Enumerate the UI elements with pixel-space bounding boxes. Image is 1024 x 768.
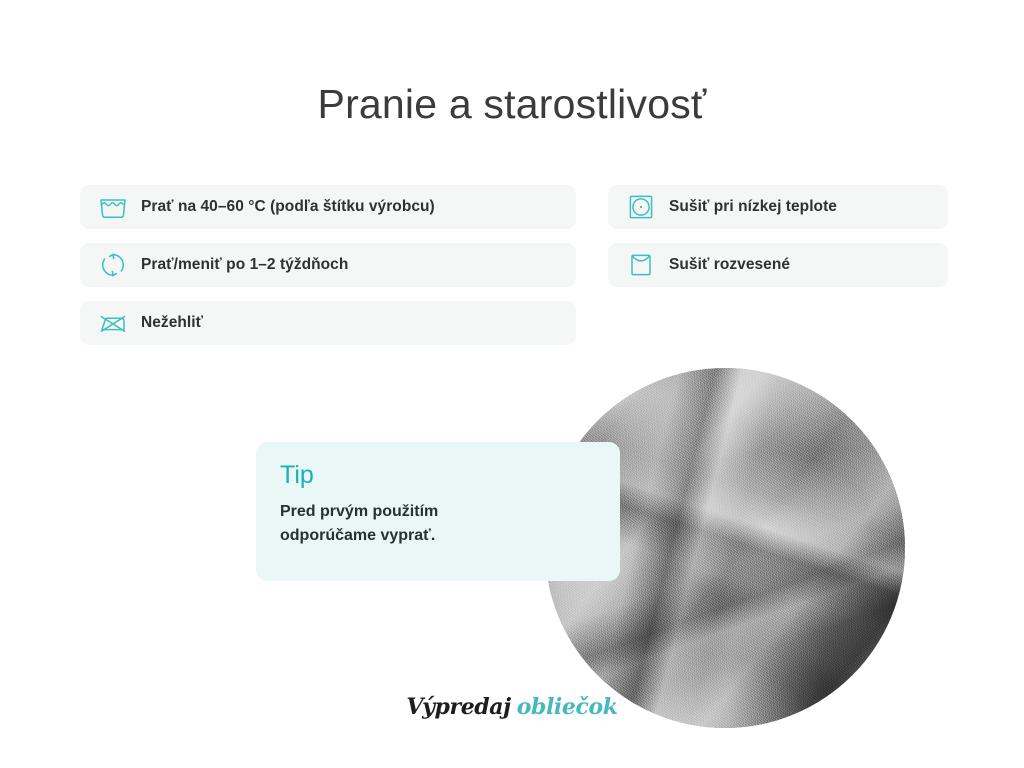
care-pill-label: Sušiť rozvesené — [669, 256, 790, 274]
tip-body-text: Pred prvým použitím odporúčame vyprať. — [280, 500, 530, 550]
care-pill-no-iron: Nežehliť — [80, 301, 576, 345]
care-pill-tumble-dry-low: Sušiť pri nízkej teplote — [608, 185, 948, 229]
brand-logo: Výpredajobliečok — [0, 694, 1024, 720]
care-pill-wash-temperature: Prať na 40–60 °C (podľa štítku výrobcu) — [80, 185, 576, 229]
care-pill-line-dry: Sušiť rozvesené — [608, 243, 948, 287]
brand-logo-word-primary: Výpredaj — [406, 694, 510, 720]
care-pill-label: Nežehliť — [141, 314, 203, 332]
page-title: Pranie a starostlivosť — [0, 79, 1024, 130]
tip-card: Tip Pred prvým použitím odporúčame vypra… — [256, 442, 620, 581]
care-pill-label: Prať na 40–60 °C (podľa štítku výrobcu) — [141, 198, 435, 216]
line-dry-icon — [624, 250, 658, 280]
washtub-icon — [96, 192, 130, 222]
care-pill-label: Prať/meniť po 1–2 týždňoch — [141, 256, 348, 274]
tip-heading: Tip — [280, 462, 596, 490]
refresh-cycle-icon — [96, 250, 130, 280]
brand-logo-word-secondary: obliečok — [517, 694, 618, 720]
care-pill-wash-frequency: Prať/meniť po 1–2 týždňoch — [80, 243, 576, 287]
care-pill-label: Sušiť pri nízkej teplote — [669, 198, 837, 216]
tumble-dry-low-icon — [624, 192, 658, 222]
infographic-canvas: Pranie a starostlivosť Prať na 40–60 °C … — [0, 0, 1024, 768]
no-iron-icon — [96, 308, 130, 338]
